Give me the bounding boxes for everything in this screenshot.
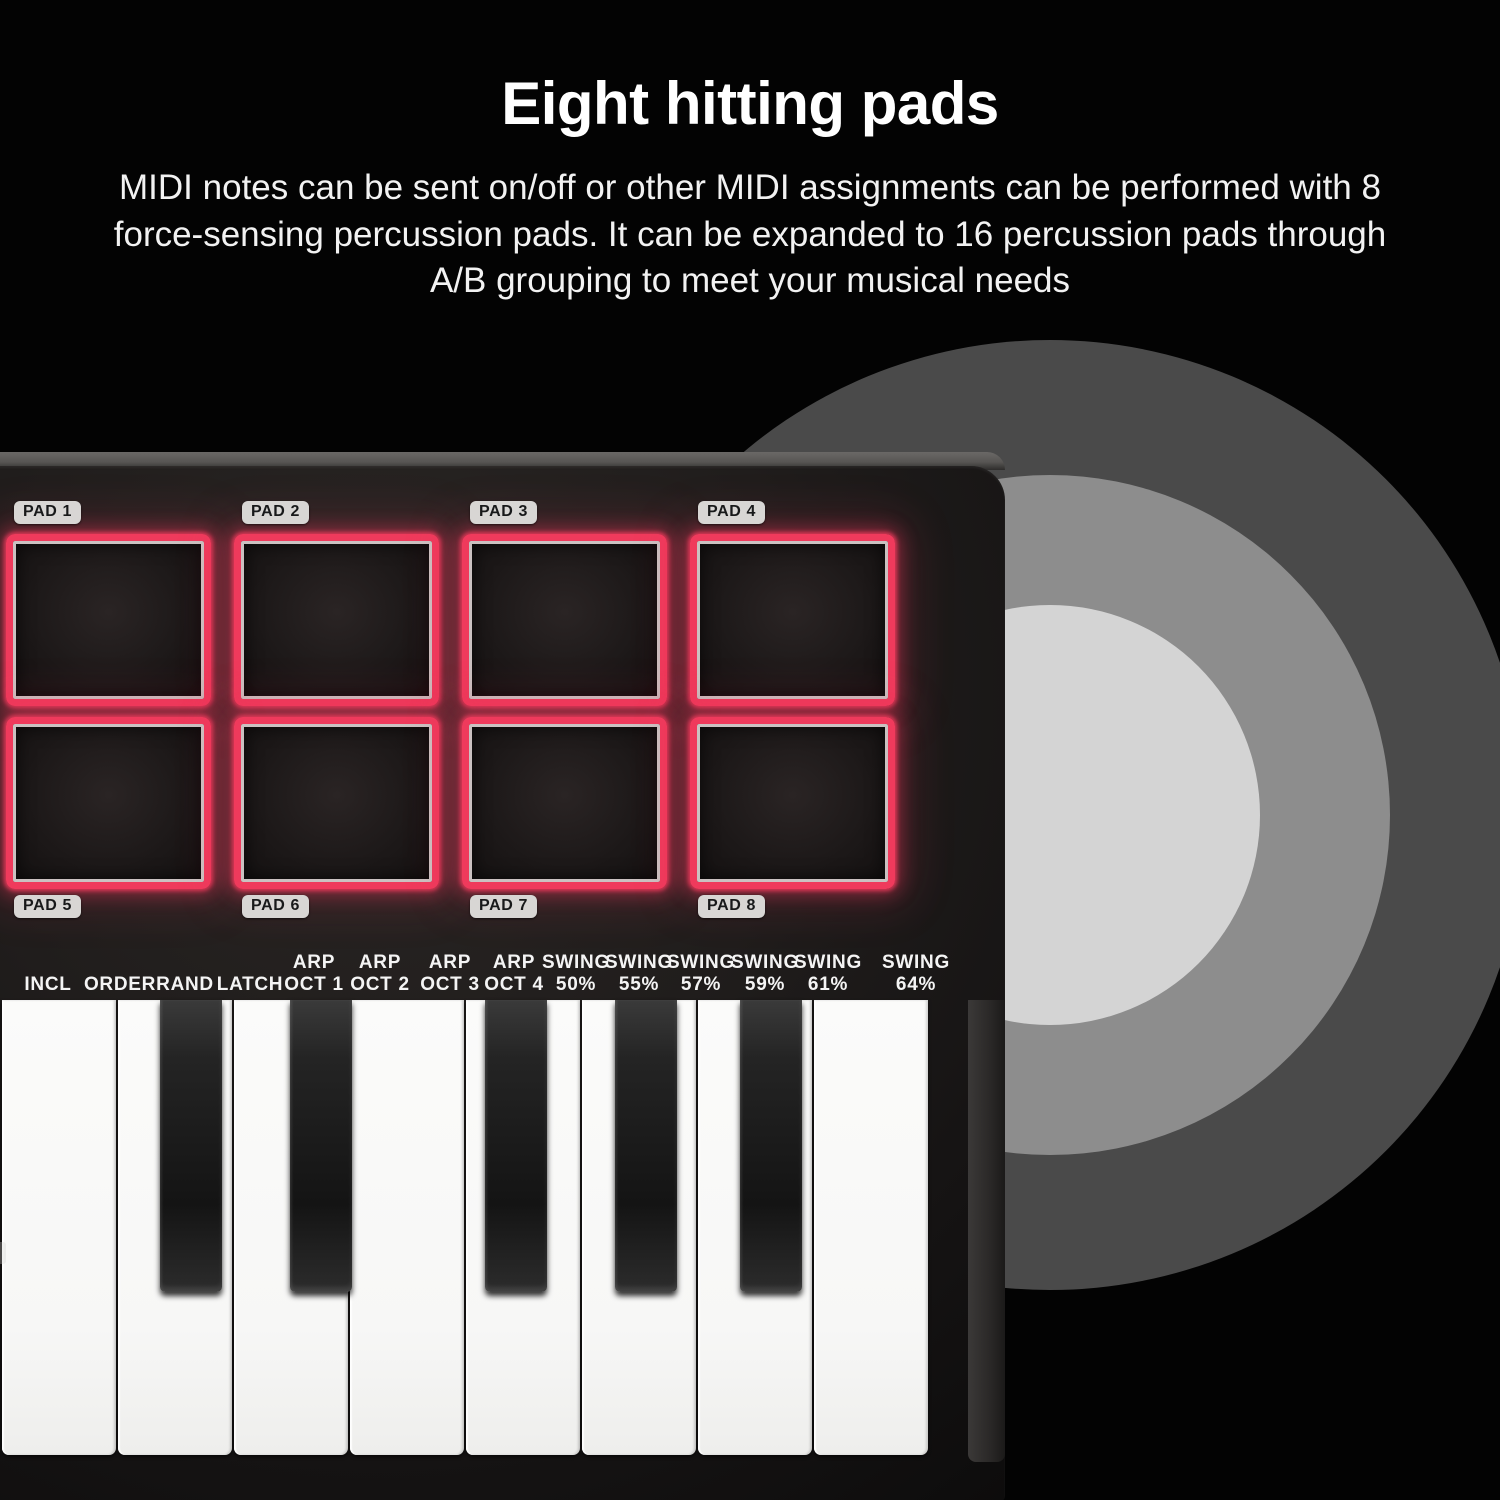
legend-order[interactable]: ORDER (84, 974, 156, 995)
black-key-2[interactable] (290, 1000, 352, 1292)
black-key-4[interactable] (615, 1000, 677, 1292)
function-legend-strip: L INCLORDERRANDLATCHARP OCT 1ARP OCT 2AR… (0, 939, 1005, 1001)
pad-2[interactable] (234, 534, 439, 706)
pad-4-label: PAD 4 (698, 501, 765, 524)
pad-cell-pad-3: PAD 3 (462, 534, 667, 706)
midi-controller-device: PAD 1PAD 2PAD 3PAD 4PAD 5PAD 6PAD 7PAD 8… (0, 452, 1005, 1500)
pad-8[interactable] (690, 717, 895, 889)
chassis-edge-marking (0, 1242, 6, 1264)
legend-swing-61[interactable]: SWING 61% (794, 952, 862, 995)
page-subtitle: MIDI notes can be sent on/off or other M… (105, 135, 1395, 305)
black-key-1[interactable] (160, 1000, 222, 1292)
legend-incl[interactable]: INCL (24, 974, 71, 995)
pad-3[interactable] (462, 534, 667, 706)
headline-block: Eight hitting pads MIDI notes can be sen… (0, 0, 1500, 305)
legend-swing-64[interactable]: SWING 64% (882, 952, 950, 995)
white-key-9[interactable] (814, 1000, 928, 1455)
pad-3-label: PAD 3 (470, 501, 537, 524)
pad-7[interactable] (462, 717, 667, 889)
legend-swing-59[interactable]: SWING 59% (731, 952, 799, 995)
pad-7-label: PAD 7 (470, 895, 537, 918)
pad-cell-pad-6: PAD 6 (234, 717, 439, 889)
legend-arp-oct-4[interactable]: ARP OCT 4 (484, 952, 543, 995)
legend-rand[interactable]: RAND (156, 974, 214, 995)
piano-keyboard (0, 1000, 968, 1462)
pad-cell-pad-8: PAD 8 (690, 717, 895, 889)
white-key-5[interactable] (350, 1000, 464, 1455)
pad-cell-pad-1: PAD 1 (6, 534, 211, 706)
black-key-3[interactable] (485, 1000, 547, 1292)
black-key-5[interactable] (740, 1000, 802, 1292)
pad-5[interactable] (6, 717, 211, 889)
pad-6[interactable] (234, 717, 439, 889)
legend-swing-50[interactable]: SWING 50% (542, 952, 610, 995)
legend-latch[interactable]: LATCH (217, 974, 283, 995)
legend-arp-oct-1[interactable]: ARP OCT 1 (284, 952, 343, 995)
legend-swing-55[interactable]: SWING 55% (605, 952, 673, 995)
pad-2-label: PAD 2 (242, 501, 309, 524)
legend-arp-oct-2[interactable]: ARP OCT 2 (350, 952, 409, 995)
pad-cell-pad-2: PAD 2 (234, 534, 439, 706)
pad-cell-pad-4: PAD 4 (690, 534, 895, 706)
pad-5-label: PAD 5 (14, 895, 81, 918)
white-key-2[interactable] (2, 1000, 116, 1455)
pad-cell-pad-7: PAD 7 (462, 717, 667, 889)
legend-arp-oct-3[interactable]: ARP OCT 3 (420, 952, 479, 995)
pad-8-label: PAD 8 (698, 895, 765, 918)
pad-4[interactable] (690, 534, 895, 706)
product-feature-slide: Eight hitting pads MIDI notes can be sen… (0, 0, 1500, 1500)
legend-swing-57[interactable]: SWING 57% (667, 952, 735, 995)
pad-6-label: PAD 6 (242, 895, 309, 918)
pad-1-label: PAD 1 (14, 501, 81, 524)
pad-grid: PAD 1PAD 2PAD 3PAD 4PAD 5PAD 6PAD 7PAD 8 (0, 466, 1005, 936)
device-side-panel (968, 1000, 1005, 1462)
page-title: Eight hitting pads (0, 0, 1500, 135)
pad-cell-pad-5: PAD 5 (6, 717, 211, 889)
pad-1[interactable] (6, 534, 211, 706)
